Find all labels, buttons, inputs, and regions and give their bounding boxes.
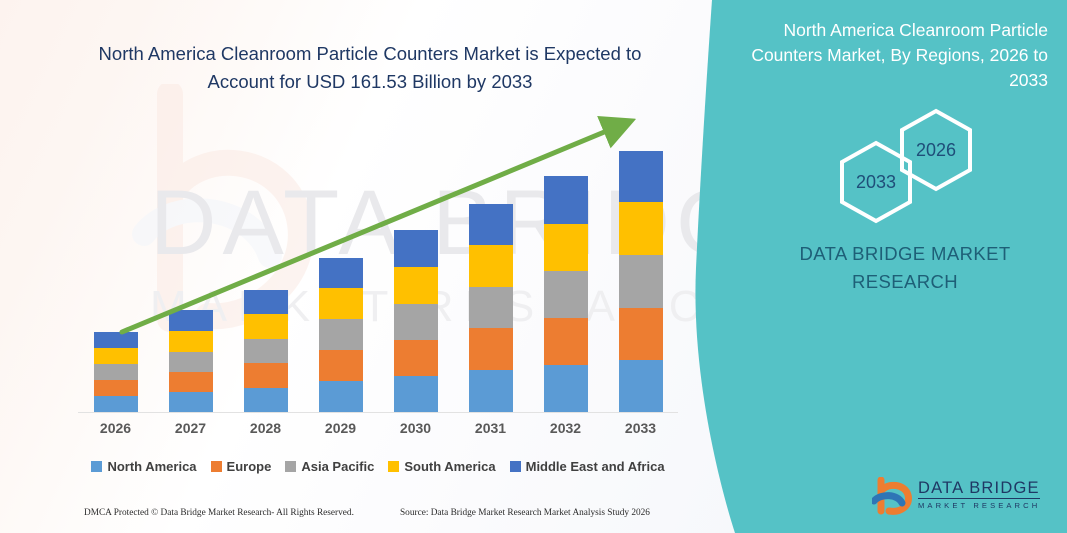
legend-swatch-icon xyxy=(285,461,296,472)
segment-north-america-2029 xyxy=(319,381,363,412)
segment-europe-2031 xyxy=(469,328,513,370)
segment-middle-east-and-africa-2028 xyxy=(244,290,288,314)
segment-europe-2028 xyxy=(244,363,288,388)
segment-europe-2027 xyxy=(169,372,213,392)
segment-middle-east-and-africa-2026 xyxy=(94,332,138,348)
logo-tagline: MARKET RESEARCH xyxy=(918,498,1040,511)
segment-south-america-2028 xyxy=(244,314,288,339)
bar-2026 xyxy=(94,332,138,412)
segment-south-america-2026 xyxy=(94,348,138,364)
bar-2030 xyxy=(394,230,438,412)
hexagon-2033-label: 2033 xyxy=(838,140,914,224)
segment-middle-east-and-africa-2027 xyxy=(169,310,213,331)
legend-label: Europe xyxy=(227,459,272,474)
chart-legend: North AmericaEuropeAsia PacificSouth Ame… xyxy=(78,455,678,477)
b-monogram-icon xyxy=(872,477,916,517)
segment-south-america-2030 xyxy=(394,267,438,304)
x-label-2032: 2032 xyxy=(531,420,601,436)
segment-south-america-2029 xyxy=(319,288,363,319)
logo-text: DATA BRIDGE MARKET RESEARCH xyxy=(918,479,1040,511)
footer-source-note: Source: Data Bridge Market Research Mark… xyxy=(400,508,650,518)
segment-north-america-2026 xyxy=(94,396,138,412)
bar-2029 xyxy=(319,258,363,412)
infographic-canvas: DATA BRIDGE MARKET RESEARCH North Americ… xyxy=(0,0,1067,533)
segment-asia-pacific-2033 xyxy=(619,255,663,308)
segment-middle-east-and-africa-2032 xyxy=(544,176,588,224)
panel-heading: North America Cleanroom Particle Counter… xyxy=(748,18,1048,93)
segment-middle-east-and-africa-2030 xyxy=(394,230,438,267)
segment-north-america-2032 xyxy=(544,365,588,412)
legend-label: North America xyxy=(107,459,196,474)
segment-middle-east-and-africa-2031 xyxy=(469,204,513,245)
segment-europe-2029 xyxy=(319,350,363,381)
panel-brand-line1: DATA BRIDGE MARKET xyxy=(760,240,1050,268)
segment-asia-pacific-2029 xyxy=(319,319,363,350)
segment-north-america-2028 xyxy=(244,388,288,412)
bar-2028 xyxy=(244,290,288,412)
bar-2033 xyxy=(619,151,663,412)
x-label-2030: 2030 xyxy=(381,420,451,436)
segment-asia-pacific-2027 xyxy=(169,352,213,372)
legend-label: Asia Pacific xyxy=(301,459,374,474)
segment-north-america-2030 xyxy=(394,376,438,412)
bar-2031 xyxy=(469,204,513,412)
segment-asia-pacific-2032 xyxy=(544,271,588,318)
x-label-2031: 2031 xyxy=(456,420,526,436)
bar-2032 xyxy=(544,176,588,412)
legend-item-south-america: South America xyxy=(388,459,495,474)
legend-swatch-icon xyxy=(91,461,102,472)
segment-north-america-2031 xyxy=(469,370,513,412)
legend-item-europe: Europe xyxy=(211,459,272,474)
panel-brand-text: DATA BRIDGE MARKET RESEARCH xyxy=(760,240,1050,296)
segment-europe-2032 xyxy=(544,318,588,365)
segment-north-america-2033 xyxy=(619,360,663,412)
footer: DMCA Protected © Data Bridge Market Rese… xyxy=(0,504,690,528)
hexagon-badge-2033: 2033 xyxy=(838,140,914,224)
legend-label: Middle East and Africa xyxy=(526,459,665,474)
legend-swatch-icon xyxy=(510,461,521,472)
segment-asia-pacific-2028 xyxy=(244,339,288,363)
x-label-2028: 2028 xyxy=(231,420,301,436)
x-label-2029: 2029 xyxy=(306,420,376,436)
legend-item-north-america: North America xyxy=(91,459,196,474)
legend-label: South America xyxy=(404,459,495,474)
segment-south-america-2032 xyxy=(544,224,588,271)
data-bridge-logo: DATA BRIDGE MARKET RESEARCH xyxy=(872,477,1042,517)
segment-asia-pacific-2030 xyxy=(394,304,438,340)
legend-item-asia-pacific: Asia Pacific xyxy=(285,459,374,474)
segment-south-america-2027 xyxy=(169,331,213,352)
logo-name: DATA BRIDGE xyxy=(918,479,1040,497)
segment-middle-east-and-africa-2033 xyxy=(619,151,663,202)
panel-brand-line2: RESEARCH xyxy=(760,268,1050,296)
x-label-2026: 2026 xyxy=(81,420,151,436)
x-axis-labels: 20262027202820292030203120322033 xyxy=(78,420,678,444)
segment-south-america-2033 xyxy=(619,202,663,255)
chart-baseline xyxy=(78,412,678,413)
segment-middle-east-and-africa-2029 xyxy=(319,258,363,288)
segment-europe-2033 xyxy=(619,308,663,360)
page-title: North America Cleanroom Particle Counter… xyxy=(80,40,660,96)
segment-europe-2030 xyxy=(394,340,438,376)
segment-north-america-2027 xyxy=(169,392,213,412)
segment-europe-2026 xyxy=(94,380,138,396)
legend-item-middle-east-and-africa: Middle East and Africa xyxy=(510,459,665,474)
bar-2027 xyxy=(169,310,213,412)
footer-dmca-notice: DMCA Protected © Data Bridge Market Rese… xyxy=(84,508,354,518)
segment-asia-pacific-2026 xyxy=(94,364,138,380)
segment-asia-pacific-2031 xyxy=(469,287,513,328)
legend-swatch-icon xyxy=(211,461,222,472)
x-label-2027: 2027 xyxy=(156,420,226,436)
stacked-bar-chart xyxy=(78,100,678,412)
legend-swatch-icon xyxy=(388,461,399,472)
segment-south-america-2031 xyxy=(469,245,513,287)
